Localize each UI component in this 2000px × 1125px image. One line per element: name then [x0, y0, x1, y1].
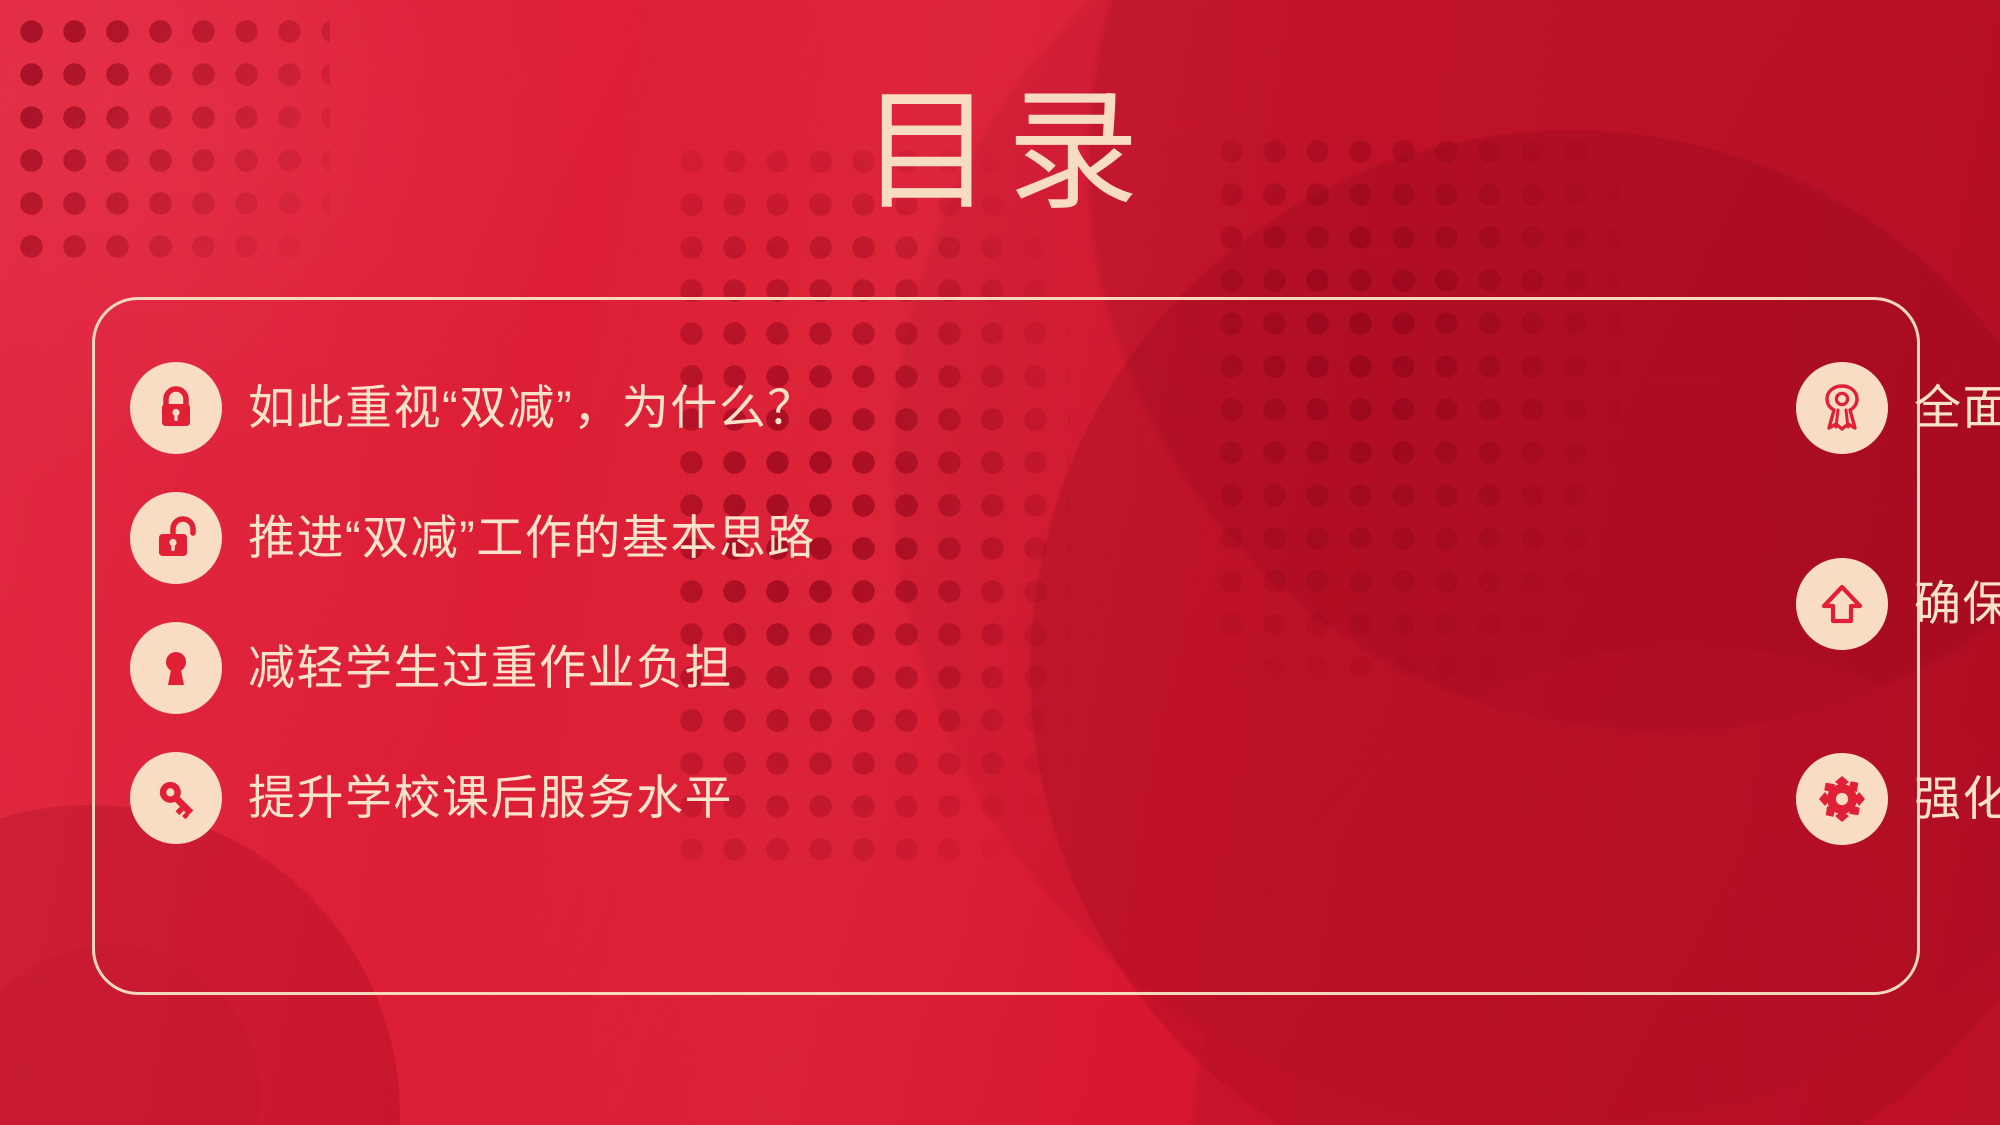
- toc-item-label: 强化配套治理，提升支撑保障能力: [1914, 773, 2000, 825]
- keyhole-icon: [130, 622, 222, 714]
- toc-item-label: 全面规范校外培训行为: [1914, 382, 2000, 434]
- key-icon: [130, 752, 222, 844]
- arrow-up-icon: [1796, 558, 1888, 650]
- toc-item-key[interactable]: 提升学校课后服务水平: [130, 752, 733, 844]
- toc-item-label: 提升学校课后服务水平: [248, 772, 733, 824]
- toc-item-gear[interactable]: 强化配套治理，提升支撑保障能力: [1796, 753, 2000, 845]
- toc-right-column: 全面规范校外培训行为 确保学生在校内学足学好: [1000, 0, 2000, 1125]
- gear-icon: [1796, 753, 1888, 845]
- medal-icon: [1796, 362, 1888, 454]
- toc-item-label: 确保学生在校内学足学好: [1914, 578, 2000, 630]
- toc-item-label: 如此重视“双减”，为什么？: [248, 382, 816, 434]
- toc-item-lock-open[interactable]: 推进“双减”工作的基本思路: [130, 492, 816, 584]
- toc-item-medal[interactable]: 全面规范校外培训行为: [1796, 362, 2000, 454]
- toc-item-arrow-up[interactable]: 确保学生在校内学足学好: [1796, 558, 2000, 650]
- toc-item-label: 减轻学生过重作业负担: [248, 642, 733, 694]
- slide-root: 目录 如此重视“双减”，为什么？: [0, 0, 2000, 1125]
- toc-item-keyhole[interactable]: 减轻学生过重作业负担: [130, 622, 733, 714]
- toc-columns: 如此重视“双减”，为什么？ 推进“双减”工作的基本思路: [0, 0, 2000, 1125]
- toc-item-label: 推进“双减”工作的基本思路: [248, 512, 816, 564]
- lock-closed-icon: [130, 362, 222, 454]
- toc-left-column: 如此重视“双减”，为什么？ 推进“双减”工作的基本思路: [0, 0, 1000, 1125]
- toc-item-lock-closed[interactable]: 如此重视“双减”，为什么？: [130, 362, 816, 454]
- lock-open-icon: [130, 492, 222, 584]
